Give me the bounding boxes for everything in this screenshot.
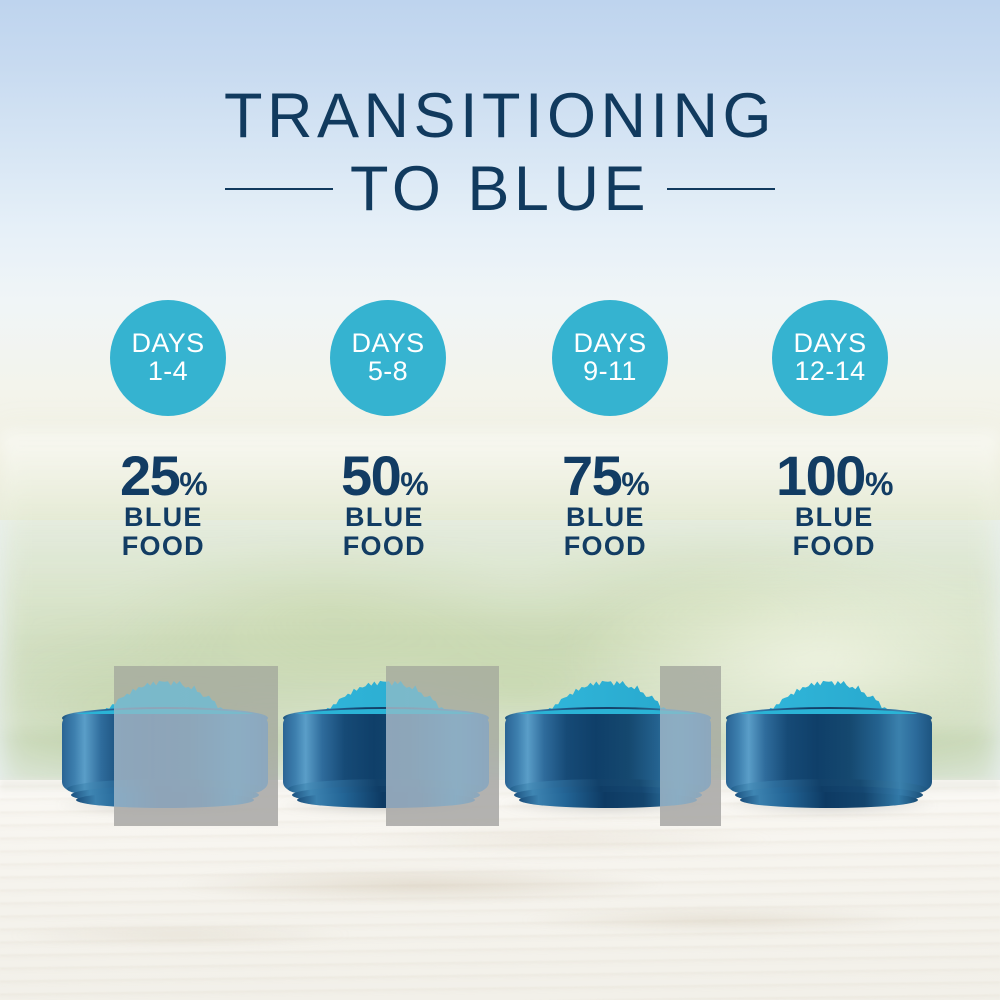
percent-sign-4: %: [865, 466, 892, 502]
days-badge-4: DAYS12-14: [772, 300, 888, 416]
days-badge-range-2: 5-8: [368, 358, 408, 386]
bowl-foot-inner-4: [740, 792, 918, 808]
percent-number-2: 50: [341, 444, 400, 507]
percent-block-2: 50%BLUEFOOD: [341, 450, 428, 561]
percent-block-3: 75%BLUEFOOD: [562, 450, 649, 561]
food-bowl-2: [283, 676, 489, 812]
days-badge-label-2: DAYS: [351, 330, 424, 358]
title-rule-left-icon: [225, 188, 333, 191]
title-line-2: TO BLUE: [350, 158, 650, 220]
grey-food-overlay-tint-2: [386, 666, 499, 826]
days-badge-2: DAYS5-8: [330, 300, 446, 416]
percent-block-1: 25%BLUEFOOD: [120, 450, 207, 561]
percent-word-food-1: FOOD: [120, 532, 207, 561]
days-badge-range-3: 9-11: [583, 358, 637, 386]
percent-row-3: 75%: [562, 450, 649, 503]
title-line-2-row: TO BLUE: [0, 158, 1000, 220]
days-badge-3: DAYS9-11: [552, 300, 668, 416]
title-line-1: TRANSITIONING: [0, 86, 1000, 146]
percent-number-1: 25: [120, 444, 179, 507]
food-bowl-3: [505, 676, 711, 812]
percent-row-4: 100%: [776, 450, 892, 503]
grey-food-overlay-tint-1: [114, 666, 278, 826]
days-badge-range-4: 12-14: [794, 358, 865, 386]
percent-word-food-2: FOOD: [341, 532, 428, 561]
days-badge-1: DAYS1-4: [110, 300, 226, 416]
days-badge-label-1: DAYS: [131, 330, 204, 358]
grey-food-overlay-tint-3: [660, 666, 721, 826]
food-bowl-1: [62, 676, 268, 812]
percent-sign-2: %: [400, 466, 427, 502]
food-bowl-4: [726, 676, 932, 812]
percent-row-2: 50%: [341, 450, 428, 503]
percent-word-blue-1: BLUE: [120, 503, 207, 532]
transition-infographic: TRANSITIONING TO BLUE DAYS1-425%BLUEFOOD…: [0, 0, 1000, 1000]
percent-word-blue-3: BLUE: [562, 503, 649, 532]
percent-sign-3: %: [621, 466, 648, 502]
title-rule-right-icon: [667, 188, 775, 191]
days-badge-label-4: DAYS: [793, 330, 866, 358]
page-title: TRANSITIONING TO BLUE: [0, 86, 1000, 220]
percent-word-food-3: FOOD: [562, 532, 649, 561]
percent-word-blue-2: BLUE: [341, 503, 428, 532]
percent-block-4: 100%BLUEFOOD: [776, 450, 892, 561]
percent-number-4: 100: [776, 444, 865, 507]
percent-row-1: 25%: [120, 450, 207, 503]
percent-sign-1: %: [179, 466, 206, 502]
percent-number-3: 75: [562, 444, 621, 507]
percent-word-food-4: FOOD: [776, 532, 892, 561]
days-badge-label-3: DAYS: [573, 330, 646, 358]
days-badge-range-1: 1-4: [148, 358, 188, 386]
